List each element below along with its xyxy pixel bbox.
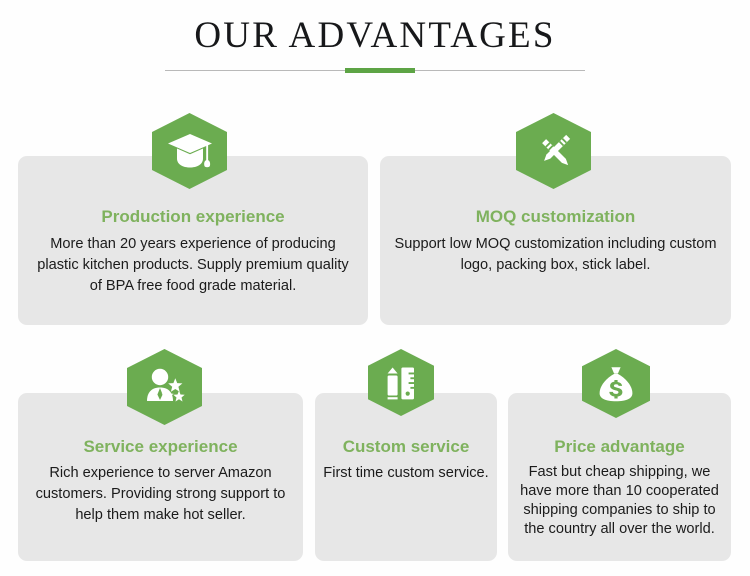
card-body-text: Support low MOQ customization including … [380, 234, 731, 276]
card-heading: Service experience [18, 437, 303, 457]
card-body-text: More than 20 years experience of produci… [18, 234, 368, 297]
divider-accent-bar [345, 68, 415, 73]
page-header: OUR ADVANTAGES [0, 0, 750, 100]
card-body-text: First time custom service. [315, 463, 497, 484]
card-heading: Production experience [18, 207, 368, 227]
card-body-text: Fast but cheap shipping, we have more th… [508, 463, 731, 539]
card-heading: Price advantage [508, 437, 731, 457]
advantage-card-custom: Custom service First time custom service… [315, 393, 497, 561]
advantage-card-price: Price advantage Fast but cheap shipping,… [508, 393, 731, 561]
page-title: OUR ADVANTAGES [0, 14, 750, 58]
card-heading: Custom service [315, 437, 497, 457]
card-heading: MOQ customization [380, 207, 731, 227]
card-body-text: Rich experience to server Amazon custome… [18, 463, 303, 526]
title-divider [165, 68, 585, 74]
